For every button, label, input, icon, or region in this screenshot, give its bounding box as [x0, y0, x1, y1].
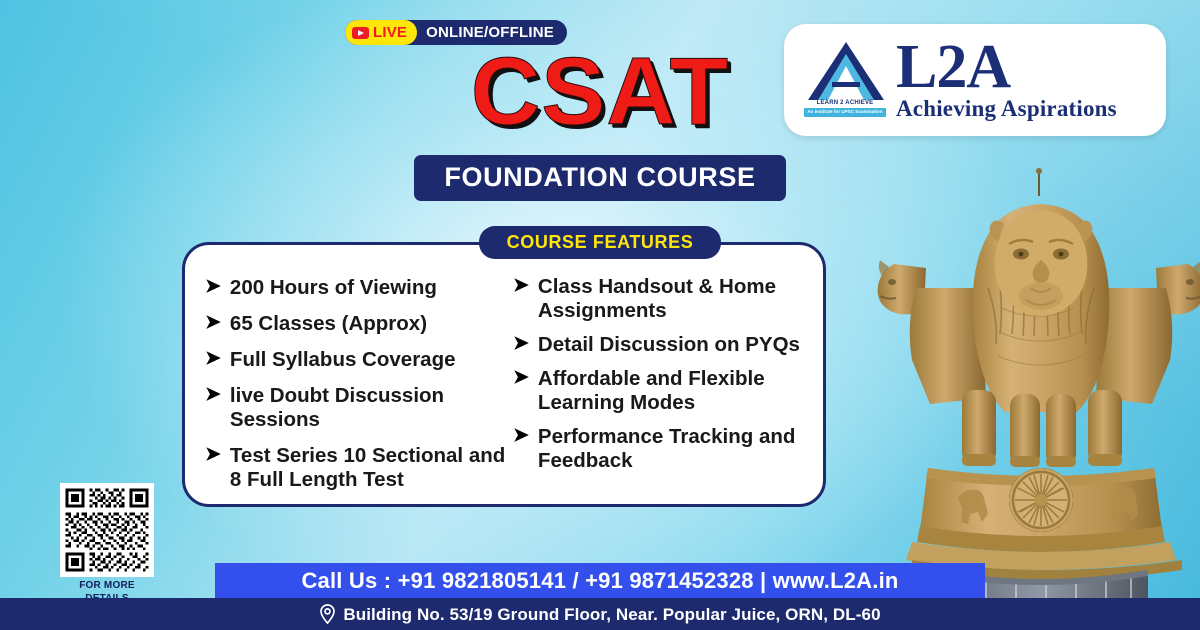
logo-mark-caption: LEARN 2 ACHIEVE [804, 100, 886, 106]
feature-item: ➤ Performance Tracking and Feedback [507, 421, 807, 477]
youtube-play-icon [352, 27, 369, 39]
call-us-bar[interactable]: Call Us : +91 9821805141 / +91 987145232… [215, 563, 985, 598]
features-right-column: ➤ Class Handsout & Home Assignments ➤ De… [507, 271, 807, 494]
feature-label: Class Handsout & Home Assignments [538, 275, 807, 323]
l2a-triangle-mark-icon: LEARN 2 ACHIEVE An Institute for UPSC Ex… [798, 38, 894, 122]
course-features-card: ➤ 200 Hours of Viewing ➤ 65 Classes (App… [182, 242, 826, 507]
features-heading-wrap: COURSE FEATURES [0, 226, 1200, 259]
address-text: Building No. 53/19 Ground Floor, Near. P… [343, 606, 880, 623]
features-heading: COURSE FEATURES [479, 226, 722, 259]
brand-wordmark: L2A [896, 39, 1010, 96]
feature-label: 65 Classes (Approx) [230, 312, 427, 336]
feature-label: Performance Tracking and Feedback [538, 425, 807, 473]
course-subtitle: FOUNDATION COURSE [414, 155, 785, 201]
feature-item: ➤ Affordable and Flexible Learning Modes [507, 363, 807, 419]
feature-label: live Doubt Discussion Sessions [230, 384, 507, 432]
qr-code-icon[interactable] [60, 483, 154, 577]
feature-item: ➤ live Doubt Discussion Sessions [199, 379, 507, 437]
feature-label: Test Series 10 Sectional and 8 Full Leng… [230, 444, 507, 492]
feature-label: 200 Hours of Viewing [230, 276, 437, 300]
feature-item: ➤ Detail Discussion on PYQs [507, 329, 807, 361]
arrow-bullet-icon: ➤ [205, 384, 221, 407]
arrow-bullet-icon: ➤ [205, 444, 221, 467]
feature-item: ➤ Test Series 10 Sectional and 8 Full Le… [199, 439, 507, 497]
promo-banner: LIVE ONLINE/OFFLINE CSAT FOUNDATION COUR… [0, 0, 1200, 630]
arrow-bullet-icon: ➤ [205, 348, 221, 371]
live-badge: LIVE [345, 20, 417, 45]
feature-item: ➤ 65 Classes (Approx) [199, 307, 507, 341]
feature-item: ➤ 200 Hours of Viewing [199, 271, 507, 305]
call-us-text: Call Us : +91 9821805141 / +91 987145232… [301, 570, 898, 592]
brand-logo-card: LEARN 2 ACHIEVE An Institute for UPSC Ex… [784, 24, 1166, 136]
arrow-bullet-icon: ➤ [513, 275, 529, 298]
arrow-bullet-icon: ➤ [513, 367, 529, 390]
brand-tagline: Achieving Aspirations [896, 97, 1117, 121]
arrow-bullet-icon: ➤ [513, 333, 529, 356]
feature-label: Affordable and Flexible Learning Modes [538, 367, 807, 415]
location-pin-icon [319, 604, 336, 624]
feature-label: Detail Discussion on PYQs [538, 333, 800, 357]
live-label: LIVE [373, 25, 407, 40]
arrow-bullet-icon: ➤ [513, 425, 529, 448]
arrow-bullet-icon: ➤ [205, 276, 221, 299]
subtitle-wrap: FOUNDATION COURSE [0, 155, 1200, 201]
logo-mark-subcaption: An Institute for UPSC Examination [804, 108, 886, 117]
arrow-bullet-icon: ➤ [205, 312, 221, 335]
feature-item: ➤ Full Syllabus Coverage [199, 343, 507, 377]
feature-label: Full Syllabus Coverage [230, 348, 456, 372]
address-bar: Building No. 53/19 Ground Floor, Near. P… [0, 598, 1200, 630]
features-left-column: ➤ 200 Hours of Viewing ➤ 65 Classes (App… [199, 271, 507, 494]
feature-item: ➤ Class Handsout & Home Assignments [507, 271, 807, 327]
brand-wordmark-block: L2A Achieving Aspirations [896, 39, 1152, 121]
